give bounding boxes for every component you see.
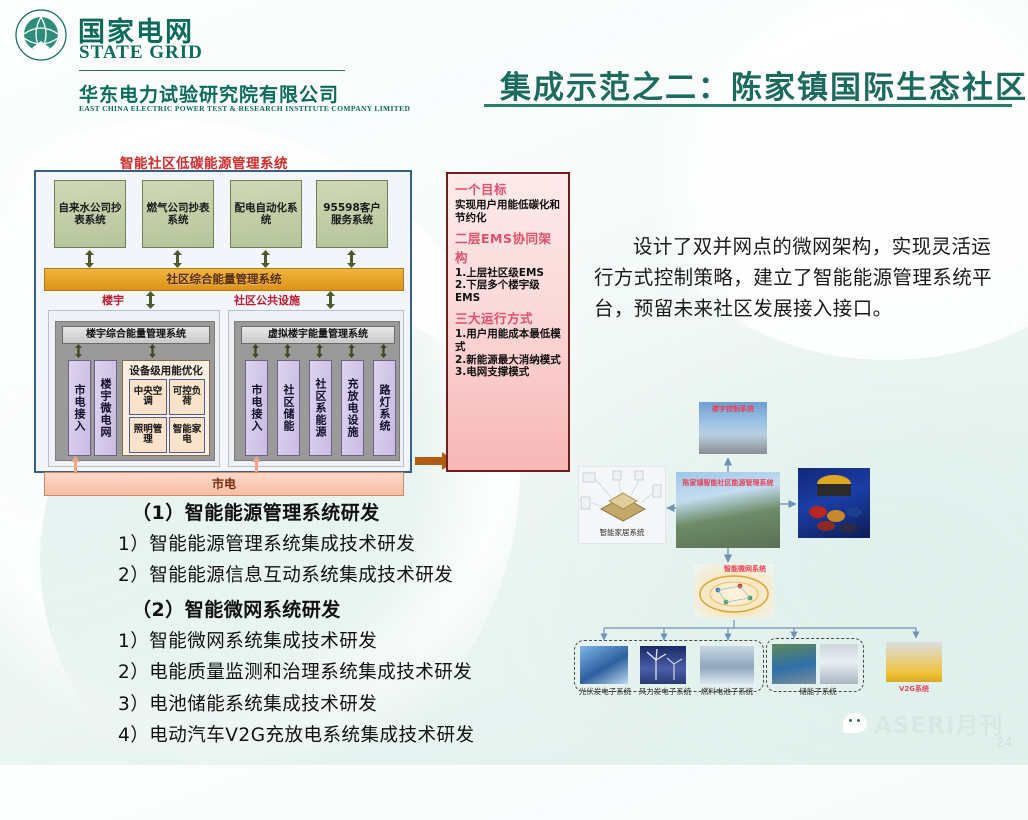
double-arrow-icon [347, 250, 356, 268]
bullet-group-heading: （1）智能能源管理系统研发 [132, 498, 538, 525]
page-number: 24 [996, 736, 1013, 751]
building-subpanel: 楼宇综合能量管理系统 市电接入 楼宇微电网 设备级用能优化 中央空调 可控负荷 … [48, 310, 220, 467]
community-energy-photo: 陈家镇智能社区能源管理系统 [676, 472, 780, 548]
key-point-body: 1.用户用能成本最低模式 2.新能源最大消纳模式 3.电网支撑模式 [455, 328, 563, 379]
double-arrow-icon [85, 250, 94, 268]
building-column: 楼宇微电网 [94, 360, 117, 456]
fuel-cell-caption: 燃料电池子系统 [692, 686, 762, 697]
state-grid-logo-icon [14, 8, 68, 62]
company-name-en: EAST CHINA ELECTRIC POWER TEST & RESEARC… [79, 104, 410, 113]
storage-photo-a [772, 644, 816, 684]
double-arrow-icon [326, 291, 335, 309]
smart-home-illustration-icon [579, 467, 665, 527]
wind-photo [640, 646, 686, 684]
key-point-heading: 一个目标 [455, 179, 563, 198]
diagram-caption: 智能社区低碳能源管理系统 [120, 152, 288, 172]
double-arrow-icon [283, 344, 292, 358]
public-column: 充放电设施 [341, 360, 364, 456]
double-arrow-icon [74, 344, 83, 358]
double-arrow-icon [251, 344, 260, 358]
key-point-body: 实现用户用能低碳化和节约化 [455, 199, 563, 225]
device-cell: 中央空调 [129, 379, 167, 415]
public-inner: 虚拟楼宇能量管理系统 市电接入 社区储能 社区系能源 充放电设施 路灯系统 [234, 321, 400, 461]
watermark: ASERI月刊 [842, 706, 1003, 740]
title-underline [484, 104, 1012, 107]
bullet-item: 1）智能能源管理系统集成技术研发 [118, 533, 538, 556]
research-bullet-list: （1）智能能源管理系统研发 1）智能能源管理系统集成技术研发 2）智能能源信息互… [118, 496, 538, 755]
smart-home-caption: 智能家居系统 [579, 527, 665, 538]
device-cell: 照明管理 [129, 417, 167, 453]
diagram-frame: 自来水公司抄表系统 燃气公司抄表系统 配电自动化系统 95598客户服务系统 社… [34, 170, 412, 473]
public-facility-subpanel: 虚拟楼宇能量管理系统 市电接入 社区储能 社区系能源 充放电设施 路灯系统 [228, 310, 404, 467]
device-optimization-title: 设备级用能优化 [123, 363, 209, 378]
v2g-photo [886, 642, 942, 682]
community-energy-caption: 陈家镇智能社区能源管理系统 [676, 480, 780, 488]
bullet-item: 3）电池储能系统集成技术研发 [118, 693, 538, 716]
mains-power-bar: 市电 [44, 472, 404, 496]
double-arrow-icon [261, 250, 270, 268]
power-quality-photo: 电能质量治理系统 [798, 468, 870, 538]
watermark-text: ASERI月刊 [874, 706, 1003, 740]
bullet-item: 1）智能微网系统集成技术研发 [118, 630, 538, 653]
energy-management-diagram: 智能社区低碳能源管理系统 自来水公司抄表系统 燃气公司抄表系统 配电自动化系统 … [28, 152, 548, 482]
branch-label-public: 社区公共设施 [234, 292, 300, 308]
branch-label-building: 楼宇 [102, 292, 124, 308]
building-ems-header: 楼宇综合能量管理系统 [62, 326, 210, 344]
double-arrow-icon [146, 291, 155, 309]
up-arrow-icon [252, 456, 261, 472]
power-quality-devices-icon [798, 468, 870, 538]
pv-photo [580, 646, 628, 684]
microgrid-caption: 智能微网系统 [724, 566, 774, 574]
bullet-item: 4）电动汽车V2G充放电系统集成技术研发 [118, 724, 538, 747]
device-cell: 可控负荷 [169, 379, 205, 415]
wind-turbine-icon [640, 646, 686, 684]
community-ems-bar: 社区综合能量管理系统 [44, 268, 404, 291]
wechat-bubble-icon [842, 712, 868, 734]
bullet-item: 2）电能质量监测和治理系统集成技术研发 [118, 661, 538, 684]
key-point-heading: 三大运行方式 [455, 308, 563, 327]
double-arrow-icon [148, 344, 157, 358]
public-column: 社区储能 [277, 360, 300, 456]
storage-caption: 储能子系统 [780, 686, 856, 697]
fuel-cell-photo [700, 646, 754, 684]
double-arrow-icon [315, 344, 324, 358]
smart-microgrid-photo: 智能微网系统 [694, 564, 774, 618]
public-column: 市电接入 [245, 360, 268, 456]
key-point-heading: 二层EMS协同架构 [455, 228, 563, 266]
bullet-group-heading: （2）智能微网系统研发 [132, 595, 538, 622]
device-optimization-box: 设备级用能优化 中央空调 可控负荷 照明管理 智能家电 [122, 360, 210, 456]
company-name-cn: 华东电力试验研究院有限公司 [79, 80, 339, 107]
v2g-caption: V2G系统 [880, 686, 948, 694]
building-control-caption: 楼宇控制系统 [699, 406, 767, 414]
building-column: 市电接入 [68, 360, 91, 456]
smart-home-photo: 智能家居系统 [578, 466, 666, 544]
building-control-photo: 楼宇控制系统 [699, 402, 767, 454]
double-arrow-icon [379, 344, 388, 358]
diagram-top-box: 燃气公司抄表系统 [142, 180, 214, 248]
double-arrow-icon [347, 344, 356, 358]
diagram-top-box: 自来水公司抄表系统 [54, 180, 126, 248]
public-column: 社区系能源 [309, 360, 332, 456]
building-inner: 楼宇综合能量管理系统 市电接入 楼宇微电网 设备级用能优化 中央空调 可控负荷 … [55, 321, 215, 461]
slide-header: 国家电网 STATE GRID 华东电力试验研究院有限公司 EAST CHINA… [0, 0, 1028, 128]
up-arrow-icon [71, 456, 80, 472]
bullet-item: 2）智能能源信息互动系统集成技术研发 [118, 564, 538, 587]
virtual-building-ems-header: 虚拟楼宇能量管理系统 [241, 326, 395, 344]
double-arrow-icon [173, 250, 182, 268]
storage-photo-b [820, 644, 858, 684]
public-column: 路灯系统 [373, 360, 396, 456]
logo-text-en: STATE GRID [79, 42, 203, 64]
header-divider [79, 70, 345, 71]
device-cell: 智能家电 [169, 417, 205, 453]
key-points-panel: 一个目标 实现用户用能低碳化和节约化 二层EMS协同架构 1.上层社区级EMS … [446, 172, 570, 472]
description-paragraph: 设计了双并网点的微网架构，实现灵活运行方式控制策略，建立了智能能源管理系统平台，… [594, 232, 998, 324]
diagram-top-box: 95598客户服务系统 [316, 180, 388, 248]
slide-title: 集成示范之二：陈家镇国际生态社区 [500, 62, 1028, 107]
diagram-top-box: 配电自动化系统 [230, 180, 302, 248]
key-point-body: 1.上层社区级EMS 2.下层多个楼宇级EMS [455, 267, 563, 305]
system-photo-montage: 楼宇控制系统 陈家镇智能社区能源管理系统 智能家居系统 [568, 388, 1020, 718]
wind-caption: 风力发电子系统 [630, 686, 700, 697]
